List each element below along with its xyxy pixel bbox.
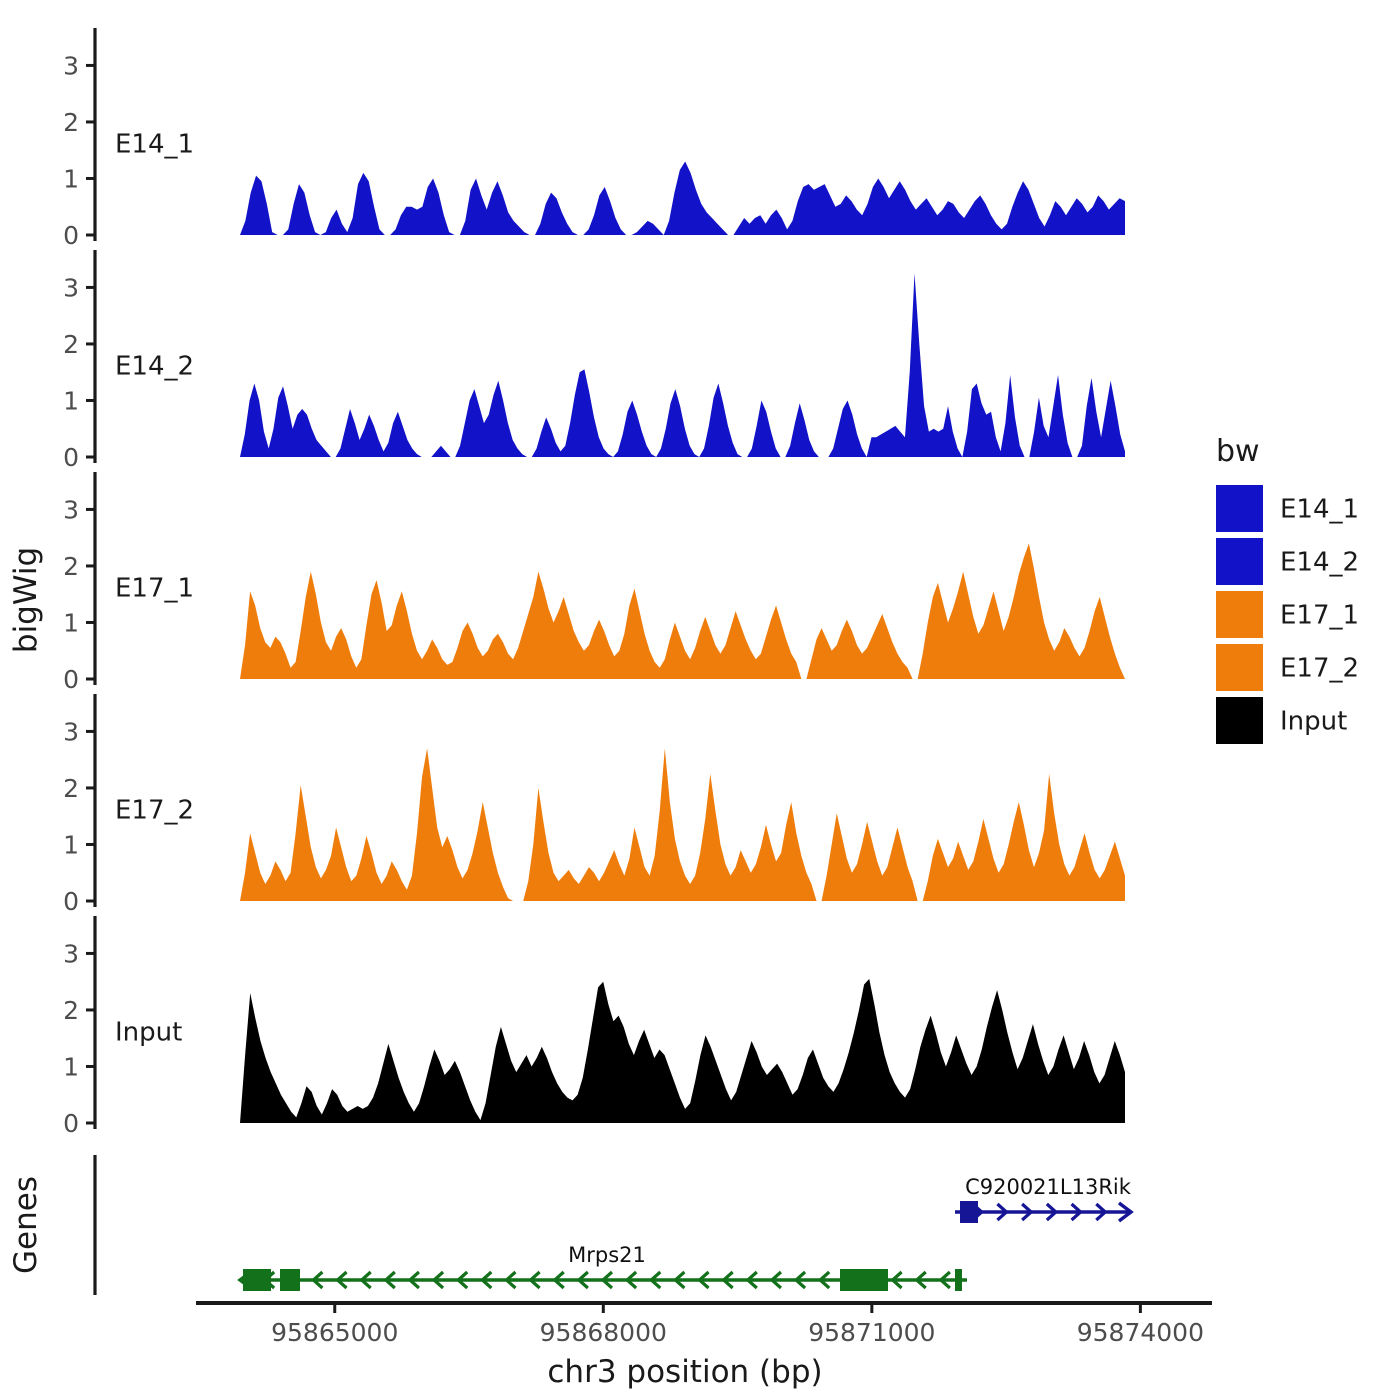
y-tick-label: 2 [63,996,79,1025]
legend-label: E14_2 [1280,548,1359,578]
y-tick-label: 3 [63,51,79,80]
y-tick-label: 0 [63,887,79,916]
y-tick-label: 0 [63,443,79,472]
y-tick-label: 0 [63,665,79,694]
legend-swatch [1216,591,1263,638]
track-label-e17_2: E17_2 [115,795,194,825]
gene-label: C920021L13Rik [965,1175,1132,1199]
strip-label-bigwig: bigWig [8,547,44,653]
track-label-e14_2: E14_2 [115,351,194,381]
gene-exon [960,1201,978,1223]
y-tick-label: 1 [63,830,79,859]
track-label-input: Input [115,1017,182,1047]
legend-label: E14_1 [1280,495,1359,525]
x-tick-label: 95874000 [1077,1318,1204,1347]
legend-swatch [1216,538,1263,585]
x-tick-label: 95868000 [540,1318,667,1347]
y-tick-label: 1 [63,164,79,193]
y-tick-label: 0 [63,1109,79,1138]
x-tick-label: 95871000 [808,1318,935,1347]
gene-label: Mrps21 [568,1243,646,1267]
strip-label-genes: Genes [8,1176,44,1274]
legend-swatch [1216,485,1263,532]
figure-root: 0123E14_10123E14_20123E17_10123E17_20123… [0,0,1400,1400]
gene-exon [955,1269,962,1291]
track-label-e14_1: E14_1 [115,129,194,159]
y-tick-label: 1 [63,386,79,415]
y-tick-label: 0 [63,221,79,250]
x-axis-title: chr3 position (bp) [547,1354,822,1390]
y-tick-label: 2 [63,552,79,581]
y-tick-label: 3 [63,717,79,746]
y-tick-label: 1 [63,608,79,637]
y-tick-label: 3 [63,939,79,968]
legend-label: E17_1 [1280,601,1359,631]
legend-swatch [1216,697,1263,744]
y-tick-label: 3 [63,273,79,302]
y-tick-label: 2 [63,774,79,803]
x-tick-label: 95865000 [271,1318,398,1347]
genome-browser-figure: 0123E14_10123E14_20123E17_10123E17_20123… [0,0,1400,1400]
legend-title: bw [1216,434,1260,469]
y-tick-label: 2 [63,330,79,359]
track-label-e17_1: E17_1 [115,573,194,603]
legend-swatch [1216,644,1263,691]
gene-exon [243,1269,271,1291]
gene-exon [840,1269,888,1291]
legend-label: Input [1280,707,1347,737]
gene-exon [280,1269,300,1291]
y-tick-label: 1 [63,1052,79,1081]
y-tick-label: 3 [63,495,79,524]
legend-label: E17_2 [1280,654,1359,684]
y-tick-label: 2 [63,108,79,137]
